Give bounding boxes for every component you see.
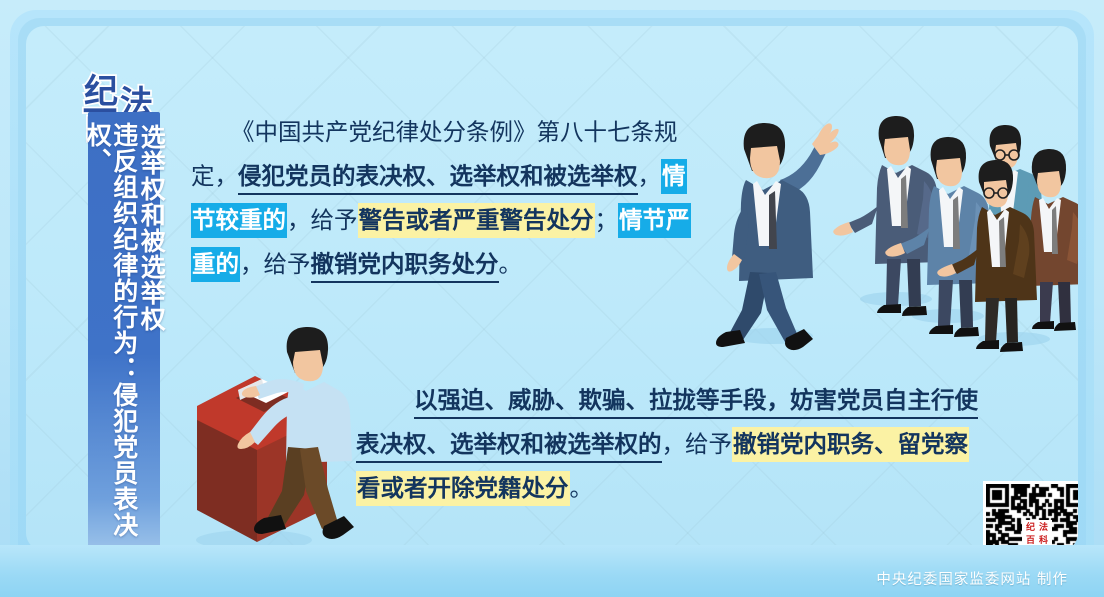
p1-l1-text: 《中国共产党纪律处分条例》第八十七条规	[231, 118, 678, 146]
p2-l3-period: 。	[570, 474, 594, 502]
qr-logo-char-ji: 纪	[1024, 522, 1037, 535]
p1-l2-underlined: 侵犯党员的表决权、选举权和被选举权	[238, 162, 638, 195]
p1-l4-underlined: 撤销党内职务处分	[311, 250, 499, 283]
p2-l3-yellow: 看或者开除党籍处分	[356, 471, 570, 506]
p1-l3-semicolon: ；	[595, 206, 619, 234]
p1-l2-prefix: 定，	[191, 162, 238, 190]
p1-l3-cyan-1: 节较重的	[191, 203, 287, 238]
p1-l2-comma: ，	[638, 162, 662, 190]
p1-l3-cyan-2: 情节严	[618, 203, 691, 238]
paragraph1-line-3: 节较重的，给予警告或者严重警告处分；情节严	[191, 198, 711, 242]
p2-l2-underlined: 表决权、选举权和被选举权的	[356, 430, 662, 463]
paragraph1-line-4: 重的，给予撤销党内职务处分。	[191, 242, 711, 286]
paragraph1-line-1: 《中国共产党纪律处分条例》第八十七条规	[191, 110, 711, 154]
paragraph-article-87: 《中国共产党纪律处分条例》第八十七条规 定，侵犯党员的表决权、选举权和被选举权，…	[191, 110, 711, 286]
paragraph-coercion: 以强迫、威胁、欺骗、拉拢等手段，妨害党员自主行使 表决权、选举权和被选举权的，给…	[414, 378, 1024, 510]
p1-l4-period: 。	[499, 250, 523, 278]
banner-column-right: 选举权和被选举权	[138, 122, 165, 551]
p1-l4-cyan: 重的	[191, 247, 240, 282]
p1-l3-yellow: 警告或者严重警告处分	[358, 203, 595, 238]
p2-l2-text: ，给予	[662, 430, 733, 458]
p2-l1-underlined: 以强迫、威胁、欺骗、拉拢等手段，妨害党员自主行使	[414, 386, 978, 419]
footer-credit: 中央纪委国家监委网站 制作	[876, 568, 1068, 589]
paragraph2-line-2: 表决权、选举权和被选举权的，给予撤销党内职务、留党察	[356, 422, 1024, 466]
p2-l2-yellow: 撤销党内职务、留党察	[732, 427, 969, 462]
p1-l2-cyan: 情	[661, 159, 687, 194]
vertical-banner-text: 选举权和被选举权 违反组织纪律的行为：侵犯党员表决权、	[88, 122, 160, 551]
qr-logo-char-fa: 法	[1037, 522, 1050, 535]
p1-l4-text: ，给予	[240, 250, 311, 278]
p1-l3-text-1: ，给予	[287, 206, 358, 234]
illustration-crowd	[698, 54, 1078, 364]
poster-root: 纪 法 百 科 选举权和被选举权 违反组织纪律的行为：侵犯党员表决权、 《中国共…	[0, 0, 1104, 597]
paragraph2-line-3: 看或者开除党籍处分。	[356, 466, 1024, 510]
banner-column-left: 违反组织纪律的行为：侵犯党员表决权、	[84, 122, 137, 551]
poster-stage: 纪 法 百 科 选举权和被选举权 违反组织纪律的行为：侵犯党员表决权、 《中国共…	[26, 26, 1078, 551]
paragraph1-line-2: 定，侵犯党员的表决权、选举权和被选举权，情	[191, 154, 711, 198]
qr-code[interactable]: 纪 法 百 科	[983, 481, 1078, 551]
paragraph2-line-1: 以强迫、威胁、欺骗、拉拢等手段，妨害党员自主行使	[414, 378, 1024, 422]
